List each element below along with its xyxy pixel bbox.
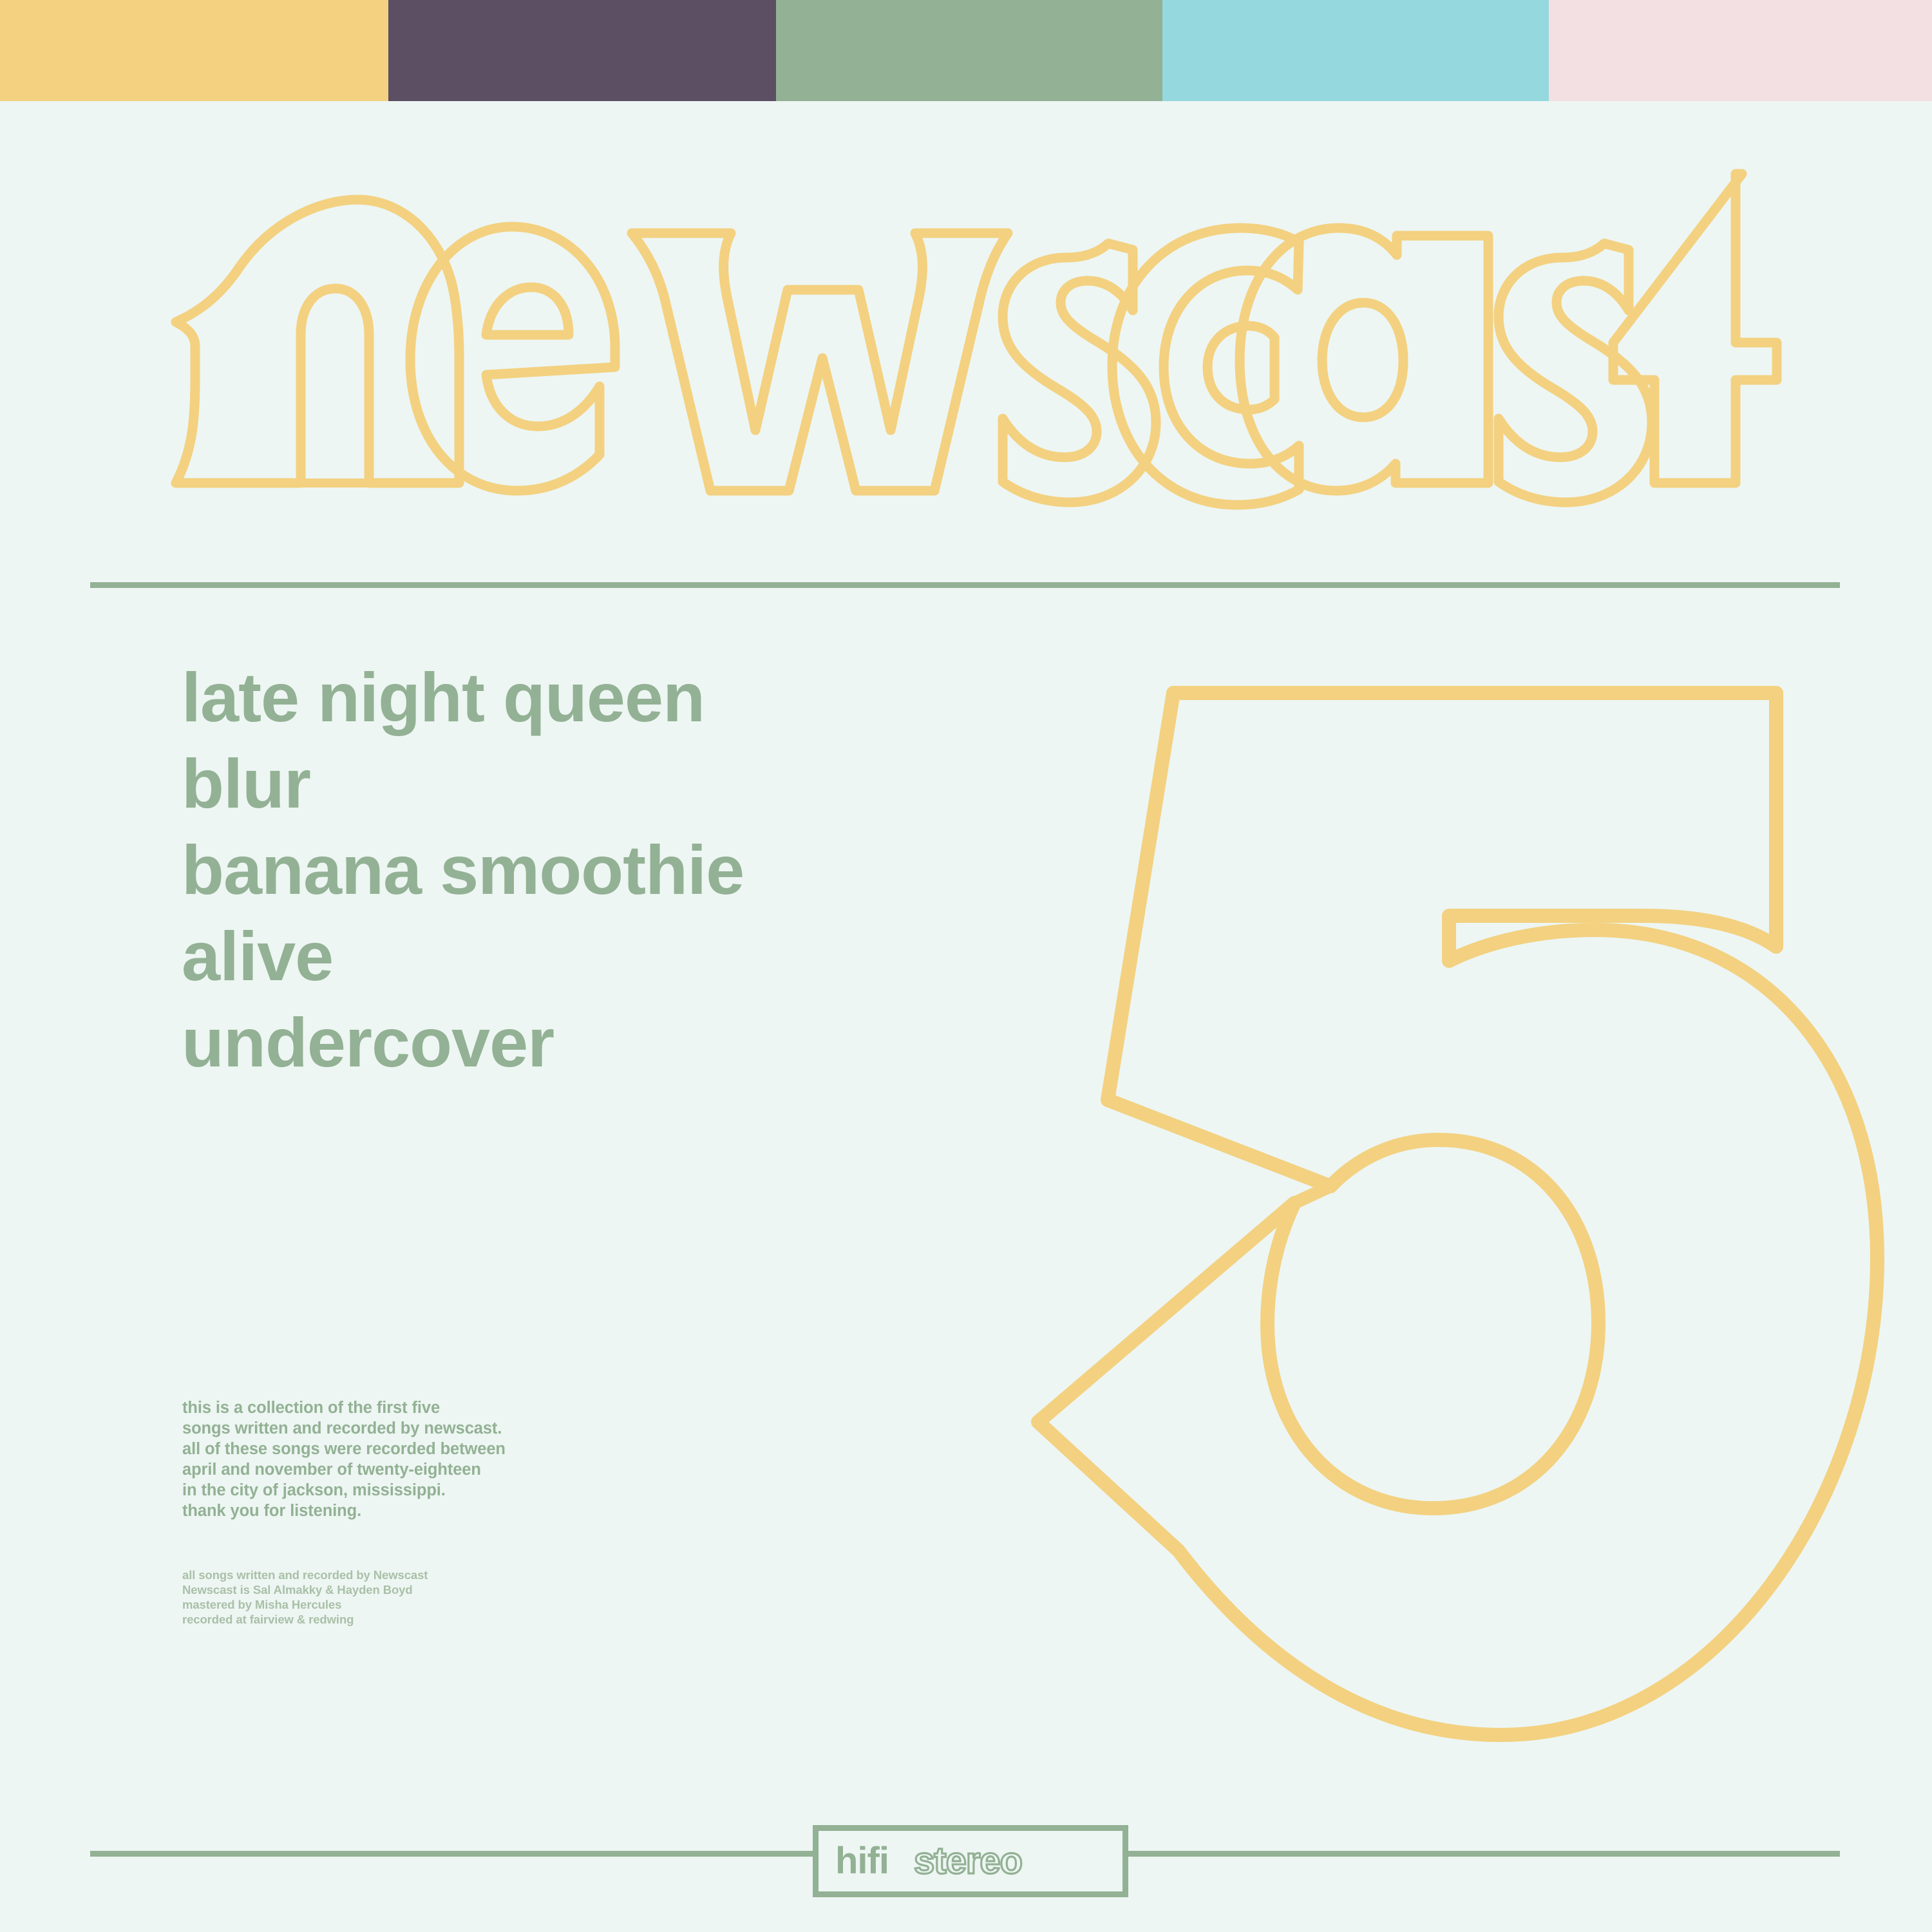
credit-line: mastered by Misha Hercules <box>182 1597 646 1612</box>
album-cover: late night queen blur banana smoothie al… <box>0 0 1932 1932</box>
swatch-plum <box>388 0 776 101</box>
liner-note-line: thank you for listening. <box>182 1501 646 1521</box>
liner-note-line: this is a collection of the first five <box>182 1397 646 1418</box>
divider-rule-top <box>90 582 1840 588</box>
hifi-stereo-lockup: hifi stereo <box>835 1841 1106 1881</box>
badge-solid-word: hifi <box>835 1840 889 1882</box>
credits-block: all songs written and recorded by Newsca… <box>182 1567 646 1627</box>
liner-note-line: songs written and recorded by newscast. <box>182 1418 646 1439</box>
credit-line: Newscast is Sal Almakky & Hayden Boyd <box>182 1582 646 1597</box>
wordmark-outline-art <box>164 174 1800 509</box>
liner-note-line: in the city of jackson, mississippi. <box>182 1480 646 1501</box>
swatch-yellow <box>0 0 388 101</box>
hifi-stereo-badge: hifi stereo <box>813 1825 1128 1897</box>
swatch-blush <box>1549 0 1932 101</box>
numeral-five-outline-art <box>1024 663 1906 1765</box>
liner-note-line: april and november of twenty-eighteen <box>182 1459 646 1480</box>
credit-line: all songs written and recorded by Newsca… <box>182 1567 646 1582</box>
numeral-five <box>1024 663 1906 1765</box>
color-bar <box>0 0 1932 101</box>
liner-notes: this is a collection of the first five s… <box>182 1397 646 1521</box>
swatch-aqua <box>1162 0 1549 101</box>
swatch-sage <box>776 0 1162 101</box>
wordmark-newscast <box>164 174 1800 509</box>
divider-rule-bottom-left <box>90 1851 813 1857</box>
divider-rule-bottom-right <box>1128 1851 1840 1857</box>
badge-outline-word: stereo <box>914 1840 1022 1882</box>
liner-note-line: all of these songs were recorded between <box>182 1439 646 1459</box>
credit-line: recorded at fairview & redwing <box>182 1612 646 1627</box>
